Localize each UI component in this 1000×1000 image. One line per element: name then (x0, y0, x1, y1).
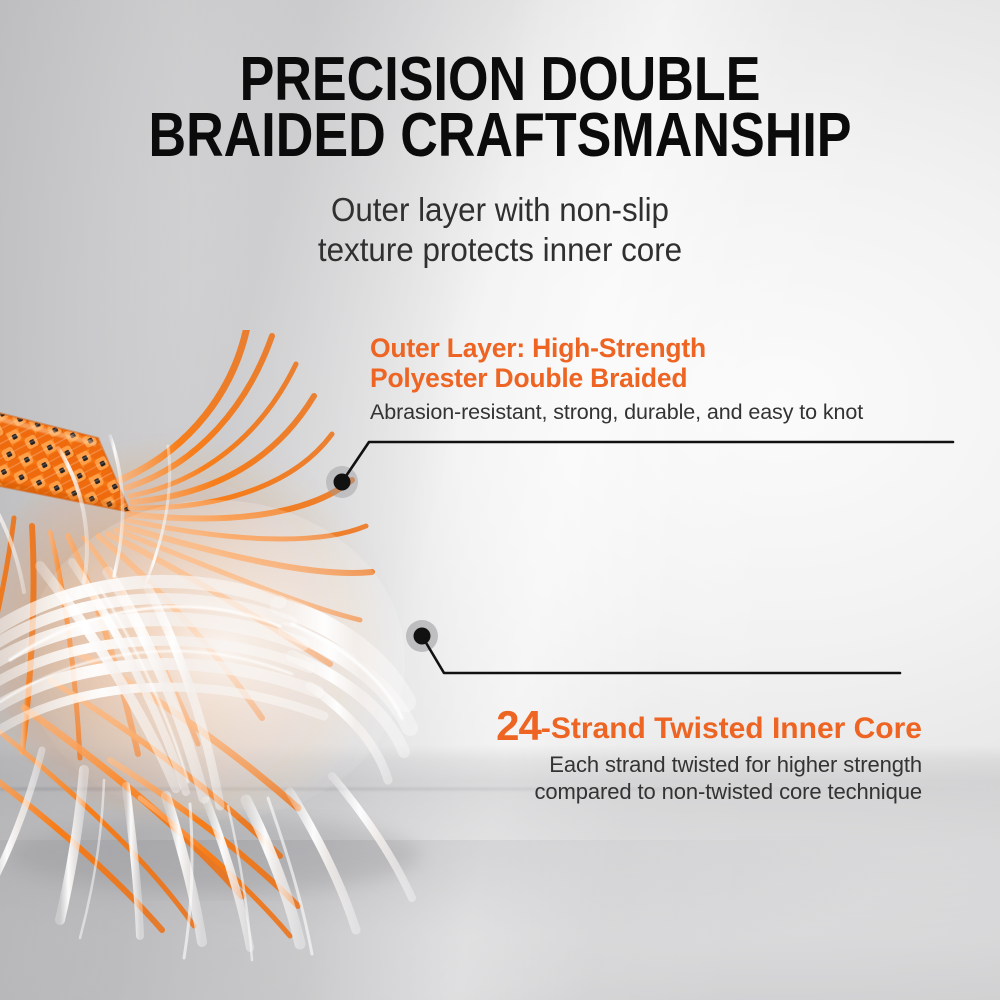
callout-inner-core-body-line-2: compared to non-twisted core technique (400, 778, 922, 805)
subtitle-line-1: Outer layer with non-slip (25, 190, 975, 230)
callout-outer-layer: Outer Layer: High-Strength Polyester Dou… (370, 333, 970, 425)
page-subtitle: Outer layer with non-slip texture protec… (25, 190, 975, 270)
callout-outer-layer-heading-line-1: Outer Layer: High-Strength (370, 333, 958, 363)
subtitle-line-2: texture protects inner core (25, 230, 975, 270)
title-line-2: BRAIDED CRAFTSMANSHIP (80, 108, 920, 164)
product-infographic: PRECISION DOUBLE BRAIDED CRAFTSMANSHIP O… (0, 0, 1000, 1000)
braided-rope-shaft (0, 398, 130, 512)
callout-inner-core-body-line-1: Each strand twisted for higher strength (400, 751, 922, 778)
callout-outer-layer-body: Abrasion-resistant, strong, durable, and… (370, 399, 970, 425)
title-line-1: PRECISION DOUBLE (80, 52, 920, 108)
callout-inner-core: 24-Strand Twisted Inner Core Each strand… (400, 706, 922, 805)
callout-outer-layer-heading-line-2: Polyester Double Braided (370, 363, 958, 393)
page-title: PRECISION DOUBLE BRAIDED CRAFTSMANSHIP (80, 52, 920, 164)
rope-product-image (0, 330, 600, 970)
callout-inner-core-heading-rest: -Strand Twisted Inner Core (541, 712, 922, 745)
callout-outer-layer-heading: Outer Layer: High-Strength Polyester Dou… (370, 333, 958, 393)
callout-inner-core-body: Each strand twisted for higher strength … (400, 751, 922, 805)
callout-inner-core-strand-count: 24 (496, 702, 541, 749)
callout-inner-core-heading: 24-Strand Twisted Inner Core (400, 706, 922, 749)
